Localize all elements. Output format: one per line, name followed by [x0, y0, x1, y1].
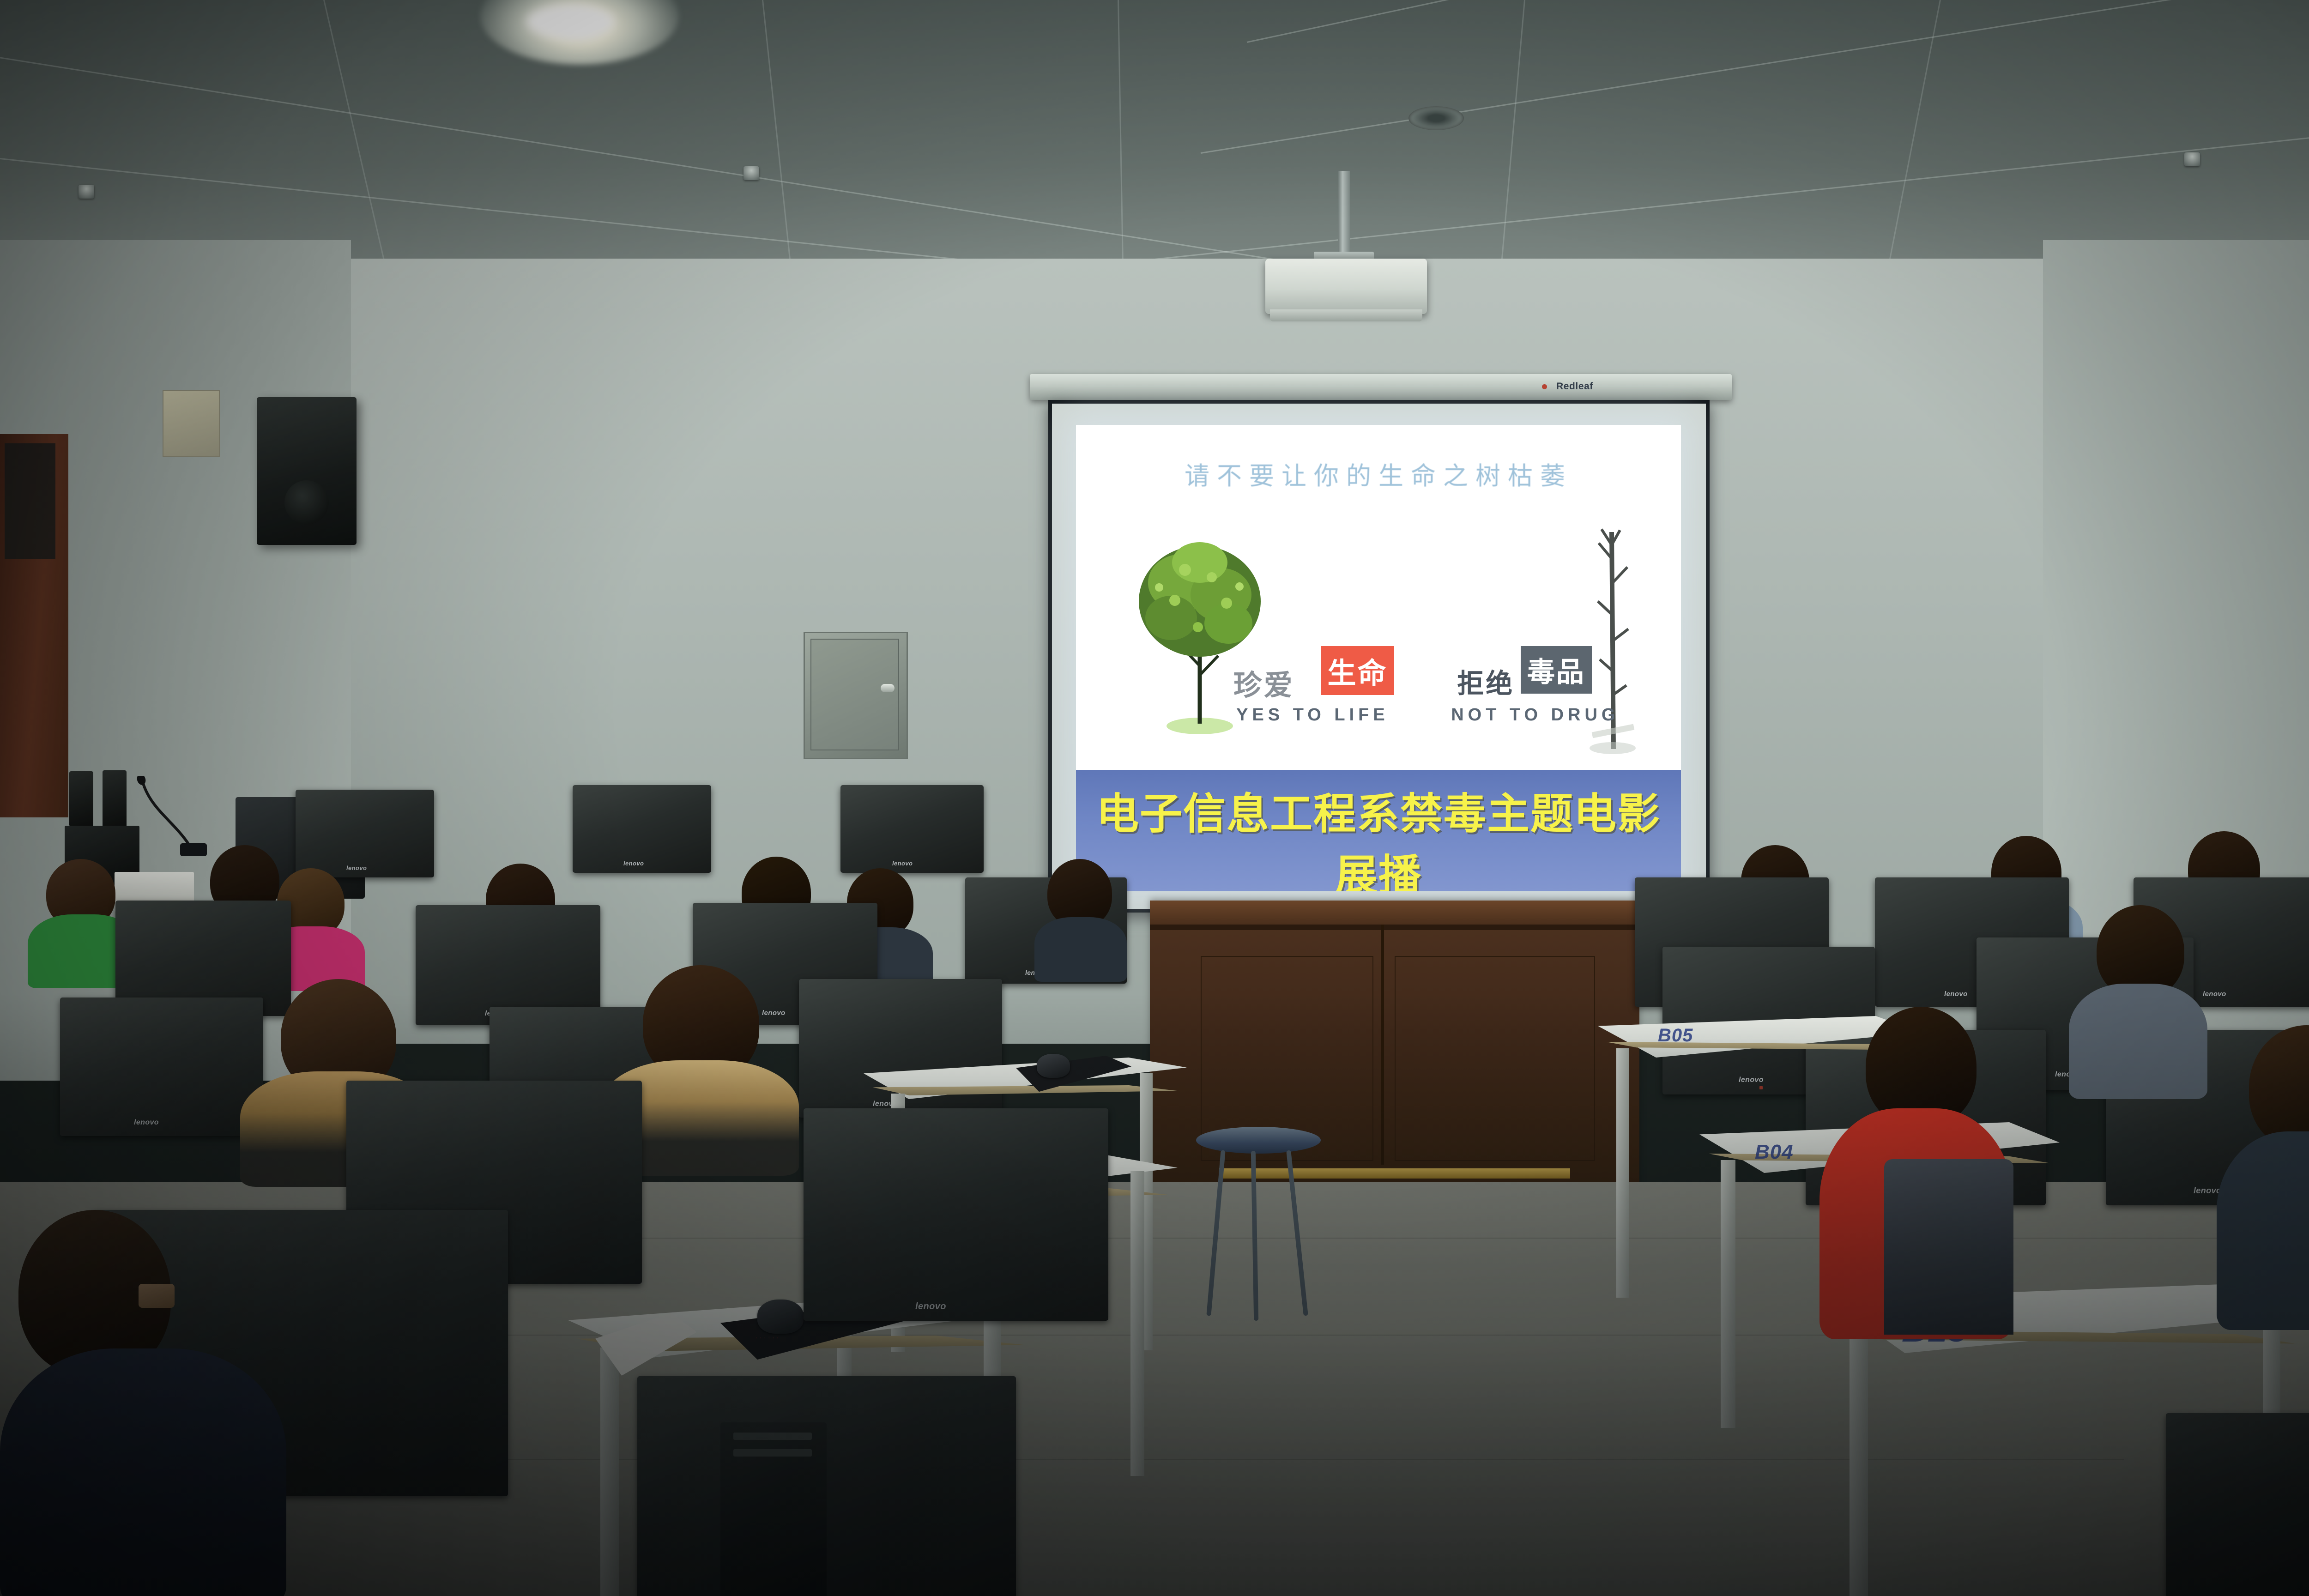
cabinet-panel-right	[1395, 956, 1595, 1161]
brand-dot-icon	[1542, 384, 1547, 389]
slide-title-text: 电子信息工程系禁毒主题电影展播	[1076, 780, 1681, 891]
vest-over-shirt	[1884, 1159, 2013, 1335]
life-box: 生命	[1321, 646, 1394, 695]
desk-number-label: B05	[1658, 1025, 1693, 1046]
zhenai-text: 珍爱	[1233, 662, 1294, 703]
teacher-speaker-right	[103, 770, 127, 828]
monitor	[2166, 1413, 2309, 1596]
desk-number-label: B04	[1755, 1141, 1794, 1164]
projector-base	[1270, 309, 1422, 321]
teacher-speaker-left	[69, 771, 93, 827]
fire-sprinkler	[2184, 152, 2200, 166]
person	[2069, 905, 2207, 1090]
monitor	[637, 1376, 1016, 1596]
stool-seat	[1196, 1127, 1321, 1154]
cabinet-divider	[1381, 925, 1384, 1165]
cabinet-rail	[1150, 925, 1639, 930]
wall-access-panel[interactable]	[804, 632, 908, 759]
monitor: lenovo	[60, 997, 263, 1136]
screen-housing: Redleaf	[1030, 374, 1732, 400]
person	[2217, 1025, 2309, 1312]
yes-to-life-text: YES TO LIFE	[1236, 705, 1389, 725]
person-foreground	[0, 1210, 286, 1596]
ceiling-projector	[1265, 259, 1427, 314]
classroom-door[interactable]	[0, 434, 68, 817]
speaker-cone	[284, 480, 329, 525]
access-panel-door	[810, 639, 899, 750]
monitor: lenovo	[573, 785, 711, 873]
drug-box: 毒品	[1521, 646, 1592, 694]
projected-slide: 请不要让你的生命之树枯萎	[1076, 425, 1681, 891]
monitor: lenovo	[840, 785, 984, 873]
drug-text: 毒品	[1527, 657, 1585, 688]
screen-brand-label: Redleaf	[1556, 381, 1593, 392]
face-profile	[139, 1284, 175, 1308]
door-window	[5, 443, 55, 559]
cabinet-top-trim	[1150, 901, 1639, 925]
classroom-scene: Redleaf 请不要让你的生命之树枯萎	[0, 0, 2309, 1596]
projector-mount-pole	[1338, 171, 1350, 259]
recessed-light	[1408, 106, 1464, 130]
slide-slogan: 请不要让你的生命之树枯萎	[1076, 455, 1681, 492]
wall-junction-box	[163, 390, 220, 457]
juejue-text: 拒绝	[1457, 662, 1514, 701]
fire-sprinkler	[743, 166, 759, 180]
person	[1819, 1007, 2013, 1330]
slide-slogan-row: 珍爱 生命 拒绝 毒品 YES TO LIFE NOT TO DRUG	[1076, 644, 1681, 727]
monitor: lenovo	[296, 790, 434, 877]
life-text: 生命	[1328, 658, 1388, 689]
not-to-drug-text: NOT TO DRUG	[1451, 705, 1619, 725]
monitor: lenovo	[804, 1108, 1108, 1321]
fire-sprinkler	[79, 185, 94, 199]
ceiling-light-core	[526, 5, 614, 39]
lab-stool[interactable]	[1196, 1127, 1321, 1316]
wall-speaker	[257, 397, 357, 545]
pc-tower	[720, 1422, 827, 1596]
person	[1034, 859, 1127, 965]
panel-latch-icon[interactable]	[881, 684, 895, 692]
